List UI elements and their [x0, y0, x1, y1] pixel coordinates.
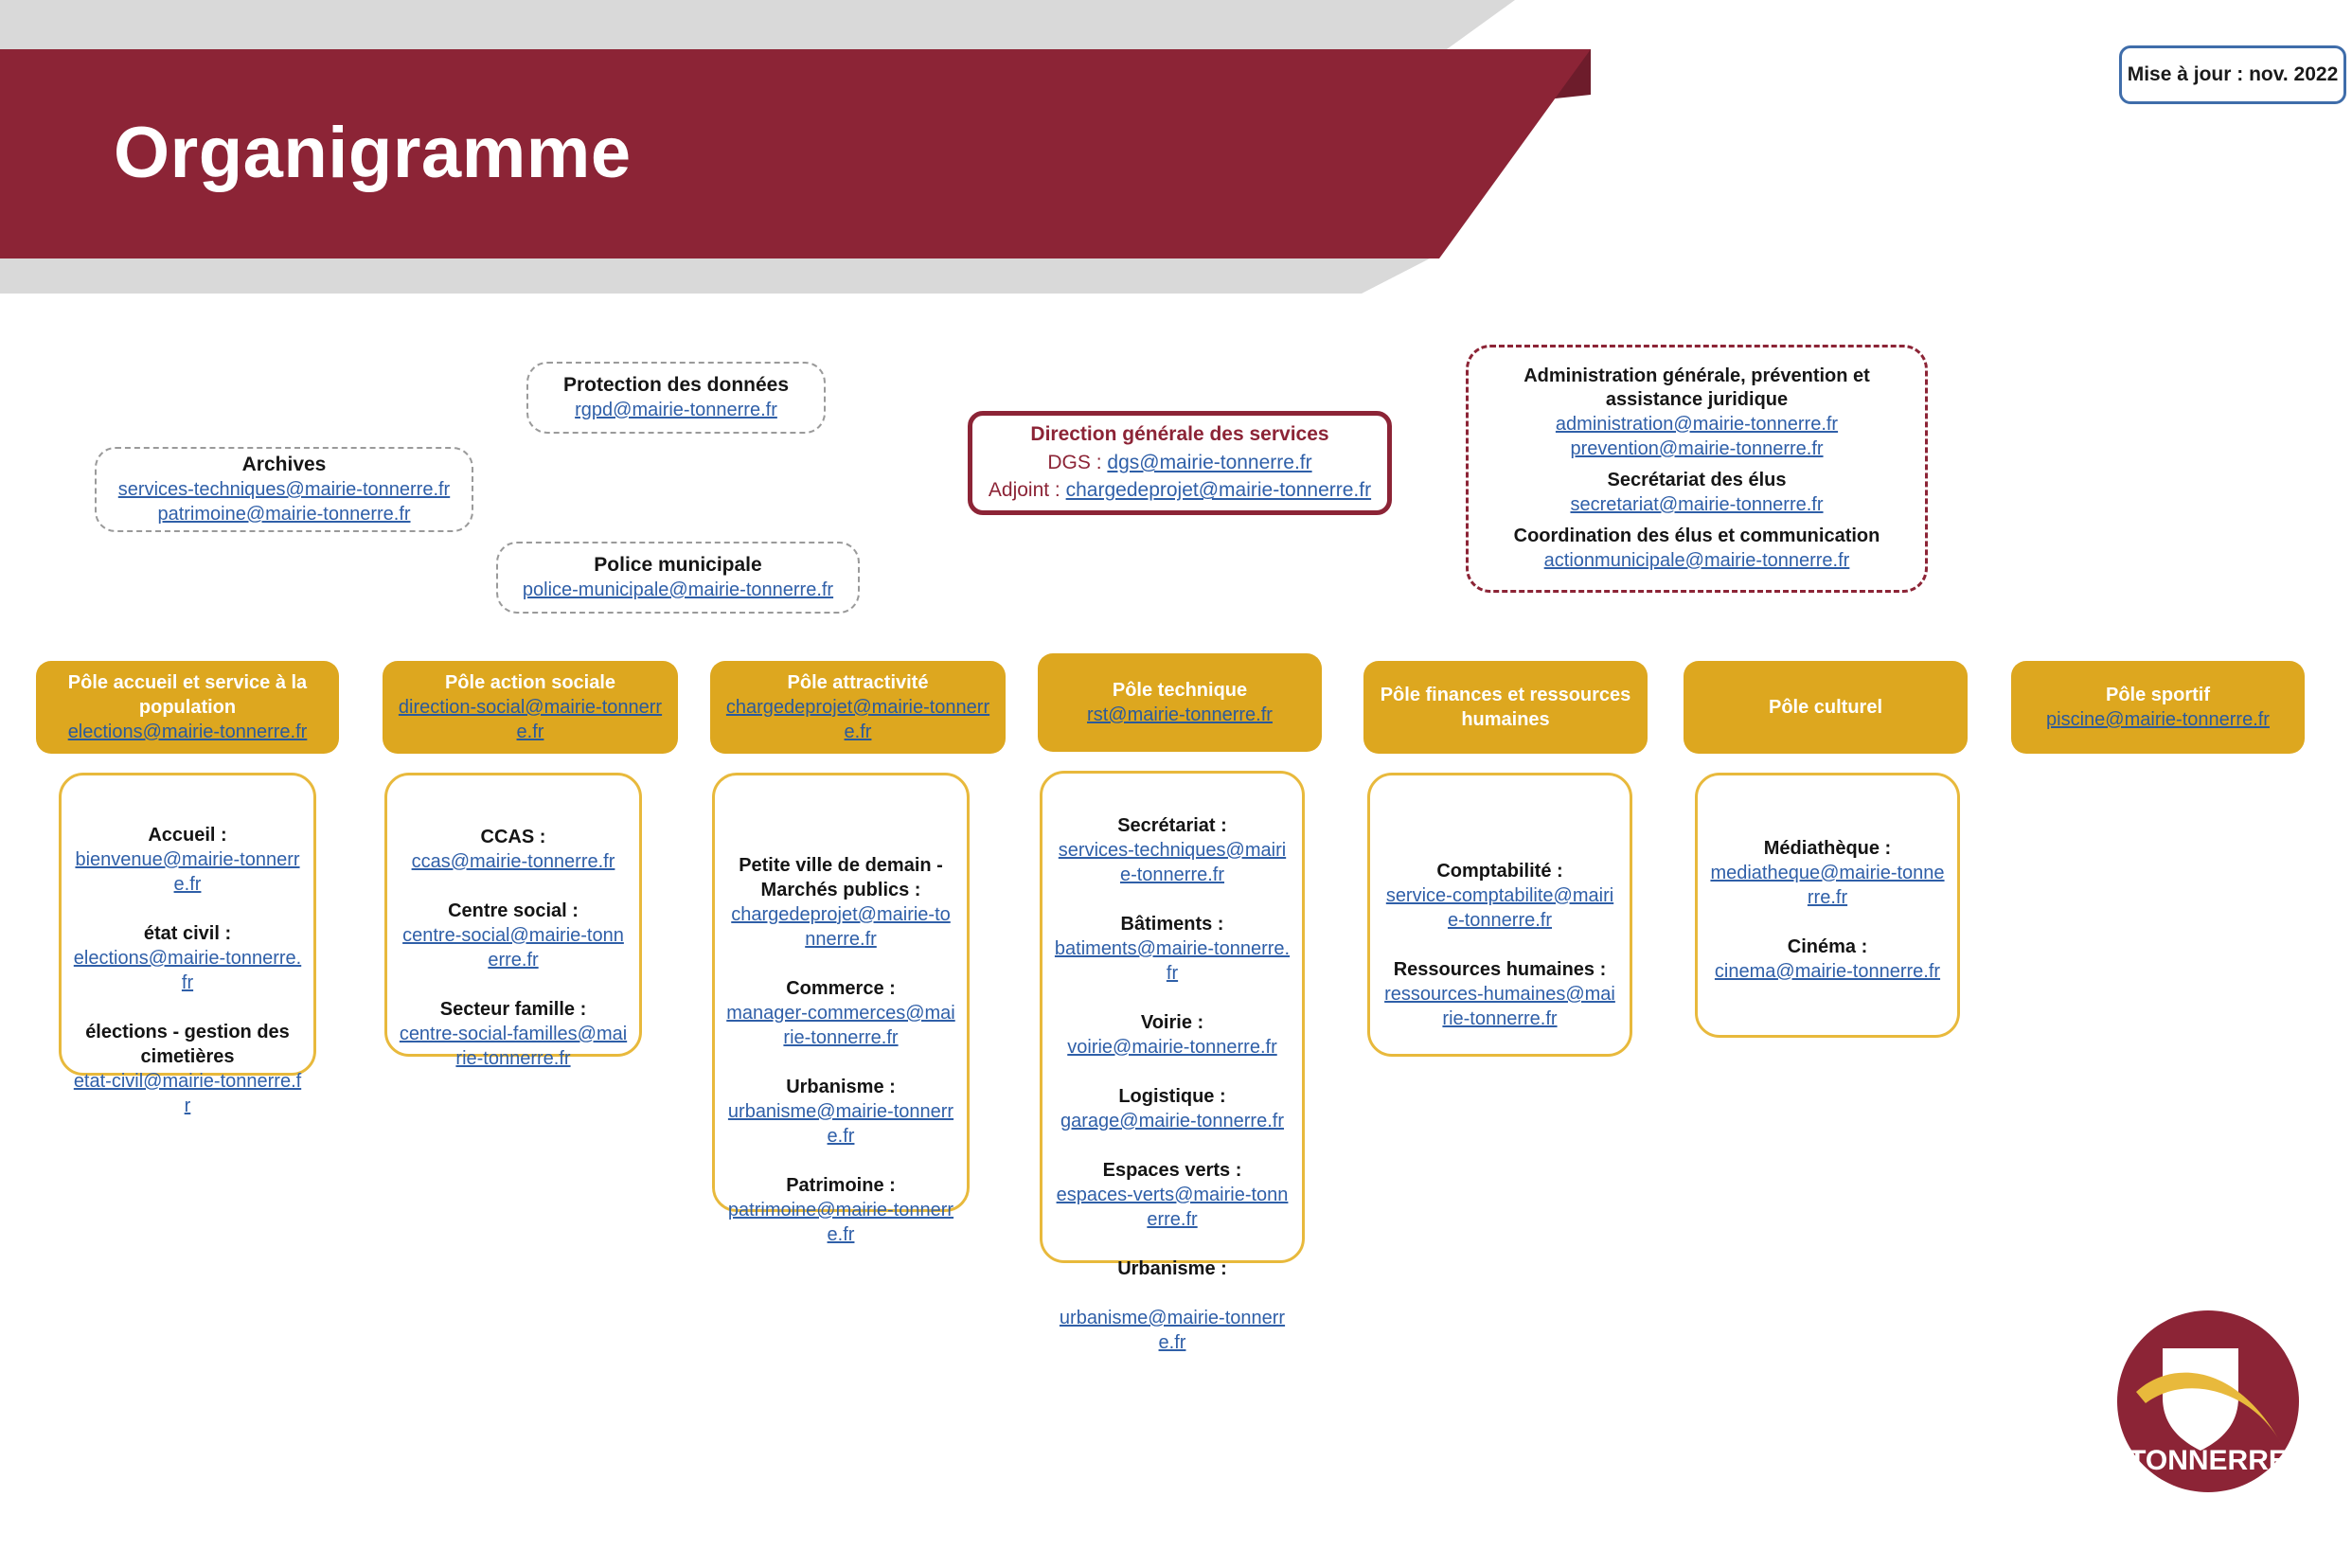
service-label: Espaces verts : — [1054, 1158, 1291, 1183]
pole-header-technique[interactable]: Pôle technique rst@mairie-tonnerre.fr — [1038, 653, 1322, 752]
pole-header-email[interactable]: direction-social@mairie-tonnerre.fr — [392, 695, 668, 744]
service-entry: Petite ville de demain - Marchés publics… — [726, 853, 955, 952]
service-email[interactable]: etat-civil@mairie-tonnerre.fr — [73, 1069, 302, 1118]
coordination-des-elus-title: Coordination des élus et communication — [1514, 525, 1880, 548]
service-entry: Voirie : voirie@mairie-tonnerre.fr — [1054, 1010, 1291, 1060]
service-entry: Comptabilité : service-comptabilite@mair… — [1381, 859, 1618, 933]
service-entry: Ressources humaines : ressources-humaine… — [1381, 957, 1618, 1031]
service-email[interactable]: manager-commerces@mairie-tonnerre.fr — [726, 1001, 955, 1050]
police-title: Police municipale — [594, 553, 761, 578]
logo-text: TONNERRE — [2129, 1445, 2288, 1476]
service-email[interactable]: garage@mairie-tonnerre.fr — [1054, 1109, 1291, 1133]
service-entry: Urbanisme : urbanisme@mairie-tonnerre.fr — [726, 1075, 955, 1149]
service-email[interactable]: mediatheque@mairie-tonnerre.fr — [1709, 861, 1946, 910]
rgpd-title: Protection des données — [563, 373, 789, 398]
service-label: Petite ville de demain - Marchés publics… — [726, 853, 955, 902]
administration-generale-box: Administration générale, prévention et a… — [1466, 345, 1928, 593]
service-label: Accueil : — [73, 823, 302, 847]
service-label: Urbanisme : — [726, 1075, 955, 1099]
service-entry: Urbanisme : urbanisme@mairie-tonnerre.fr — [1054, 1256, 1291, 1355]
service-email[interactable]: cinema@mairie-tonnerre.fr — [1709, 959, 1946, 984]
pole-body-attractivite: Petite ville de demain - Marchés publics… — [712, 773, 970, 1212]
coordination-des-elus-email[interactable]: actionmunicipale@mairie-tonnerre.fr — [1544, 548, 1850, 573]
pole-header-email[interactable]: elections@mairie-tonnerre.fr — [68, 720, 308, 744]
service-entry: Cinéma : cinema@mairie-tonnerre.fr — [1709, 935, 1946, 984]
service-email[interactable]: service-comptabilite@mairie-tonnerre.fr — [1381, 883, 1618, 933]
service-entry: Bâtiments : batiments@mairie-tonnerre.fr — [1054, 912, 1291, 986]
archives-title: Archives — [242, 453, 327, 477]
pole-header-email[interactable]: rst@mairie-tonnerre.fr — [1087, 703, 1273, 727]
service-label: Patrimoine : — [726, 1173, 955, 1198]
pole-header-title: Pôle action sociale — [445, 670, 615, 695]
pole-header-title: Pôle accueil et service à la population — [45, 670, 330, 720]
pole-header-culturel[interactable]: Pôle culturel — [1684, 661, 1968, 754]
service-label: Ressources humaines : — [1381, 957, 1618, 982]
dgs-label: DGS : — [1047, 452, 1101, 473]
banner-gray-top — [0, 0, 1515, 49]
service-label: Cinéma : — [1709, 935, 1946, 959]
protection-des-donnees-box: Protection des données rgpd@mairie-tonne… — [526, 362, 826, 434]
pole-header-action-sociale[interactable]: Pôle action sociale direction-social@mai… — [383, 661, 678, 754]
service-email[interactable]: patrimoine@mairie-tonnerre.fr — [726, 1198, 955, 1247]
archives-box: Archives services-techniques@mairie-tonn… — [95, 447, 473, 532]
pole-body-accueil: Accueil : bienvenue@mairie-tonnerre.fr é… — [59, 773, 316, 1076]
update-badge: Mise à jour : nov. 2022 — [2119, 45, 2346, 104]
service-label: Médiathèque : — [1709, 836, 1946, 861]
dgs-line: DGS : dgs@mairie-tonnerre.fr — [1047, 449, 1311, 476]
service-entry: Secteur famille : centre-social-familles… — [399, 997, 628, 1071]
service-entry: Centre social : centre-social@mairie-ton… — [399, 899, 628, 972]
pole-header-title: Pôle technique — [1113, 678, 1247, 703]
service-email[interactable]: ressources-humaines@mairie-tonnerre.fr — [1381, 982, 1618, 1031]
service-email[interactable]: elections@mairie-tonnerre.fr — [73, 946, 302, 995]
header-banner: Organigramme — [0, 0, 2352, 312]
service-label: Logistique : — [1054, 1084, 1291, 1109]
banner-gray-bottom — [0, 258, 1430, 294]
service-label: Comptabilité : — [1381, 859, 1618, 883]
spacer — [1054, 1281, 1291, 1306]
pole-body-finances: Comptabilité : service-comptabilite@mair… — [1367, 773, 1632, 1057]
police-email[interactable]: police-municipale@mairie-tonnerre.fr — [523, 578, 833, 602]
service-entry: Secrétariat : services-techniques@mairie… — [1054, 813, 1291, 887]
pole-header-finances[interactable]: Pôle finances et ressources humaines — [1363, 661, 1648, 754]
pole-header-title: Pôle finances et ressources humaines — [1373, 683, 1638, 732]
service-email[interactable]: batiments@mairie-tonnerre.fr — [1054, 936, 1291, 986]
pole-header-accueil[interactable]: Pôle accueil et service à la population … — [36, 661, 339, 754]
service-label: CCAS : — [399, 825, 628, 849]
pole-header-email[interactable]: chargedeprojet@mairie-tonnerre.fr — [720, 695, 996, 744]
service-entry: état civil : elections@mairie-tonnerre.f… — [73, 921, 302, 995]
pole-header-sportif[interactable]: Pôle sportif piscine@mairie-tonnerre.fr — [2011, 661, 2305, 754]
service-label: Commerce : — [726, 976, 955, 1001]
service-email[interactable]: centre-social@mairie-tonnerre.fr — [399, 923, 628, 972]
service-email[interactable]: bienvenue@mairie-tonnerre.fr — [73, 847, 302, 897]
service-email[interactable]: espaces-verts@mairie-tonnerre.fr — [1054, 1183, 1291, 1232]
pole-body-culturel: Médiathèque : mediatheque@mairie-tonnerr… — [1695, 773, 1960, 1038]
service-email[interactable]: urbanisme@mairie-tonnerre.fr — [726, 1099, 955, 1149]
service-email[interactable]: urbanisme@mairie-tonnerre.fr — [1054, 1306, 1291, 1355]
service-entry: élections - gestion des cimetières etat-… — [73, 1020, 302, 1118]
archives-email-1[interactable]: services-techniques@mairie-tonnerre.fr — [118, 477, 450, 502]
page-title: Organigramme — [114, 112, 632, 194]
pole-body-technique: Secrétariat : services-techniques@mairie… — [1040, 771, 1305, 1263]
service-entry: Médiathèque : mediatheque@mairie-tonnerr… — [1709, 836, 1946, 910]
dgs-email[interactable]: dgs@mairie-tonnerre.fr — [1107, 452, 1311, 473]
service-email[interactable]: voirie@mairie-tonnerre.fr — [1054, 1035, 1291, 1060]
service-email[interactable]: ccas@mairie-tonnerre.fr — [399, 849, 628, 874]
dgs-adjoint-email[interactable]: chargedeprojet@mairie-tonnerre.fr — [1066, 479, 1371, 501]
rgpd-email[interactable]: rgpd@mairie-tonnerre.fr — [575, 398, 777, 422]
service-label: Centre social : — [399, 899, 628, 923]
service-entry: Logistique : garage@mairie-tonnerre.fr — [1054, 1084, 1291, 1133]
service-label: Urbanisme : — [1054, 1256, 1291, 1281]
pole-header-title: Pôle attractivité — [788, 670, 929, 695]
pole-header-title: Pôle sportif — [2106, 683, 2210, 707]
pole-body-action-sociale: CCAS : ccas@mairie-tonnerre.fr Centre so… — [384, 773, 642, 1057]
pole-header-email[interactable]: piscine@mairie-tonnerre.fr — [2046, 707, 2270, 732]
service-email[interactable]: services-techniques@mairie-tonnerre.fr — [1054, 838, 1291, 887]
service-entry: Commerce : manager-commerces@mairie-tonn… — [726, 976, 955, 1050]
police-municipale-box: Police municipale police-municipale@mair… — [496, 542, 860, 614]
dgs-title: Direction générale des services — [1030, 421, 1328, 448]
archives-email-2[interactable]: patrimoine@mairie-tonnerre.fr — [157, 502, 410, 526]
pole-header-attractivite[interactable]: Pôle attractivité chargedeprojet@mairie-… — [710, 661, 1006, 754]
service-entry: CCAS : ccas@mairie-tonnerre.fr — [399, 825, 628, 874]
service-label: Secteur famille : — [399, 997, 628, 1022]
dgs-adjoint-line: Adjoint : chargedeprojet@mairie-tonnerre… — [989, 476, 1371, 504]
service-email[interactable]: centre-social-familles@mairie-tonnerre.f… — [399, 1022, 628, 1071]
secretariat-des-elus-email[interactable]: secretariat@mairie-tonnerre.fr — [1570, 492, 1823, 517]
service-label: Secrétariat : — [1054, 813, 1291, 838]
service-entry: Accueil : bienvenue@mairie-tonnerre.fr — [73, 823, 302, 897]
administration-title: Administration générale, prévention et a… — [1486, 365, 1908, 412]
service-label: élections - gestion des cimetières — [73, 1020, 302, 1069]
service-entry: Patrimoine : patrimoine@mairie-tonnerre.… — [726, 1173, 955, 1247]
service-label: Bâtiments : — [1054, 912, 1291, 936]
service-entry: Espaces verts : espaces-verts@mairie-ton… — [1054, 1158, 1291, 1232]
administration-email-1[interactable]: administration@mairie-tonnerre.fr — [1556, 412, 1838, 437]
tonnerre-logo: TONNERRE — [2113, 1307, 2303, 1496]
administration-email-2[interactable]: prevention@mairie-tonnerre.fr — [1570, 437, 1823, 461]
pole-header-title: Pôle culturel — [1769, 695, 1882, 720]
service-email[interactable]: chargedeprojet@mairie-tonnerre.fr — [726, 902, 955, 952]
dgs-adjoint-label: Adjoint : — [989, 479, 1060, 501]
secretariat-des-elus-title: Secrétariat des élus — [1608, 469, 1787, 492]
service-label: état civil : — [73, 921, 302, 946]
service-label: Voirie : — [1054, 1010, 1291, 1035]
direction-generale-des-services-box: Direction générale des services DGS : dg… — [968, 411, 1392, 515]
